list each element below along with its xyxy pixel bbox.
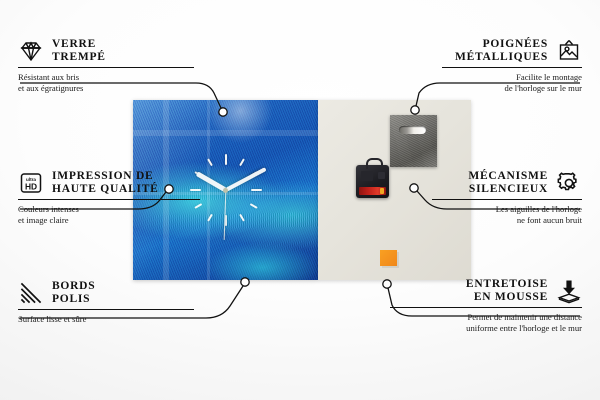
diagonal-lines-icon [18, 280, 44, 306]
feature-mecanisme-silencieux[interactable]: MÉCANISMESILENCIEUX Les aiguilles de l'h… [377, 170, 582, 226]
divider [390, 307, 582, 308]
hanger-slot [399, 126, 426, 134]
feature-header: BORDSPOLIS [18, 280, 223, 306]
clock-tick [225, 154, 227, 226]
feature-header: ultra HD IMPRESSION DEHAUTE QUALITÉ [18, 170, 223, 196]
clock-tick [225, 154, 227, 226]
gear-icon [556, 170, 582, 196]
feature-bords-polis[interactable]: BORDSPOLIS Surface lisse et sûre [18, 280, 223, 325]
feature-title: ENTRETOISEEN MOUSSE [466, 278, 548, 304]
mechanism-body-detail [361, 171, 373, 181]
mechanism-hanging-loop [366, 158, 383, 169]
feature-header: ENTRETOISEEN MOUSSE [377, 278, 582, 304]
divider [442, 67, 582, 68]
feature-poignees-metalliques[interactable]: POIGNÉESMÉTALLIQUES Facilite le montaged… [377, 38, 582, 94]
ultra-hd-icon: ultra HD [18, 170, 44, 196]
feature-description: Facilite le montagede l'horloge sur le m… [377, 72, 582, 93]
clock-center-cap [223, 188, 228, 193]
feature-description: Couleurs intenseset image claire [18, 204, 223, 225]
feature-header: MÉCANISMESILENCIEUX [377, 170, 582, 196]
feature-entretoise-en-mousse[interactable]: ENTRETOISEEN MOUSSE Permet de maintenir … [377, 278, 582, 334]
feature-title: IMPRESSION DEHAUTE QUALITÉ [52, 170, 159, 196]
diamond-icon [18, 38, 44, 64]
feature-description: Surface lisse et sûre [18, 314, 223, 325]
print-grid-band [133, 130, 318, 136]
feature-impression-haute-qualite[interactable]: ultra HD IMPRESSION DEHAUTE QUALITÉ Coul… [18, 170, 223, 226]
arrow-down-pad-icon [556, 278, 582, 304]
divider [432, 199, 582, 200]
divider [18, 67, 194, 68]
feature-title: MÉCANISMESILENCIEUX [468, 170, 548, 196]
clock-minute-hand [225, 167, 267, 192]
clock-second-hand [223, 190, 226, 240]
feature-header: POIGNÉESMÉTALLIQUES [377, 38, 582, 64]
feature-title: VERRETREMPÉ [52, 38, 106, 64]
picture-hanging-icon [556, 38, 582, 64]
feature-verre-trempe[interactable]: VERRETREMPÉ Résistant aux briset aux égr… [18, 38, 223, 94]
metal-hanger-plate [390, 115, 437, 167]
divider [18, 199, 200, 200]
feature-title: BORDSPOLIS [52, 280, 95, 306]
feature-description: Les aiguilles de l'horlogene font aucun … [377, 204, 582, 225]
feature-description: Résistant aux briset aux égratignures [18, 72, 223, 93]
feature-header: VERRETREMPÉ [18, 38, 223, 64]
svg-text:HD: HD [25, 181, 37, 191]
foam-spacer [380, 250, 397, 266]
infographic-canvas: VERRETREMPÉ Résistant aux briset aux égr… [0, 0, 600, 400]
feature-description: Permet de maintenir une distanceuniforme… [377, 312, 582, 333]
divider [18, 309, 194, 310]
feature-title: POIGNÉESMÉTALLIQUES [455, 38, 548, 64]
